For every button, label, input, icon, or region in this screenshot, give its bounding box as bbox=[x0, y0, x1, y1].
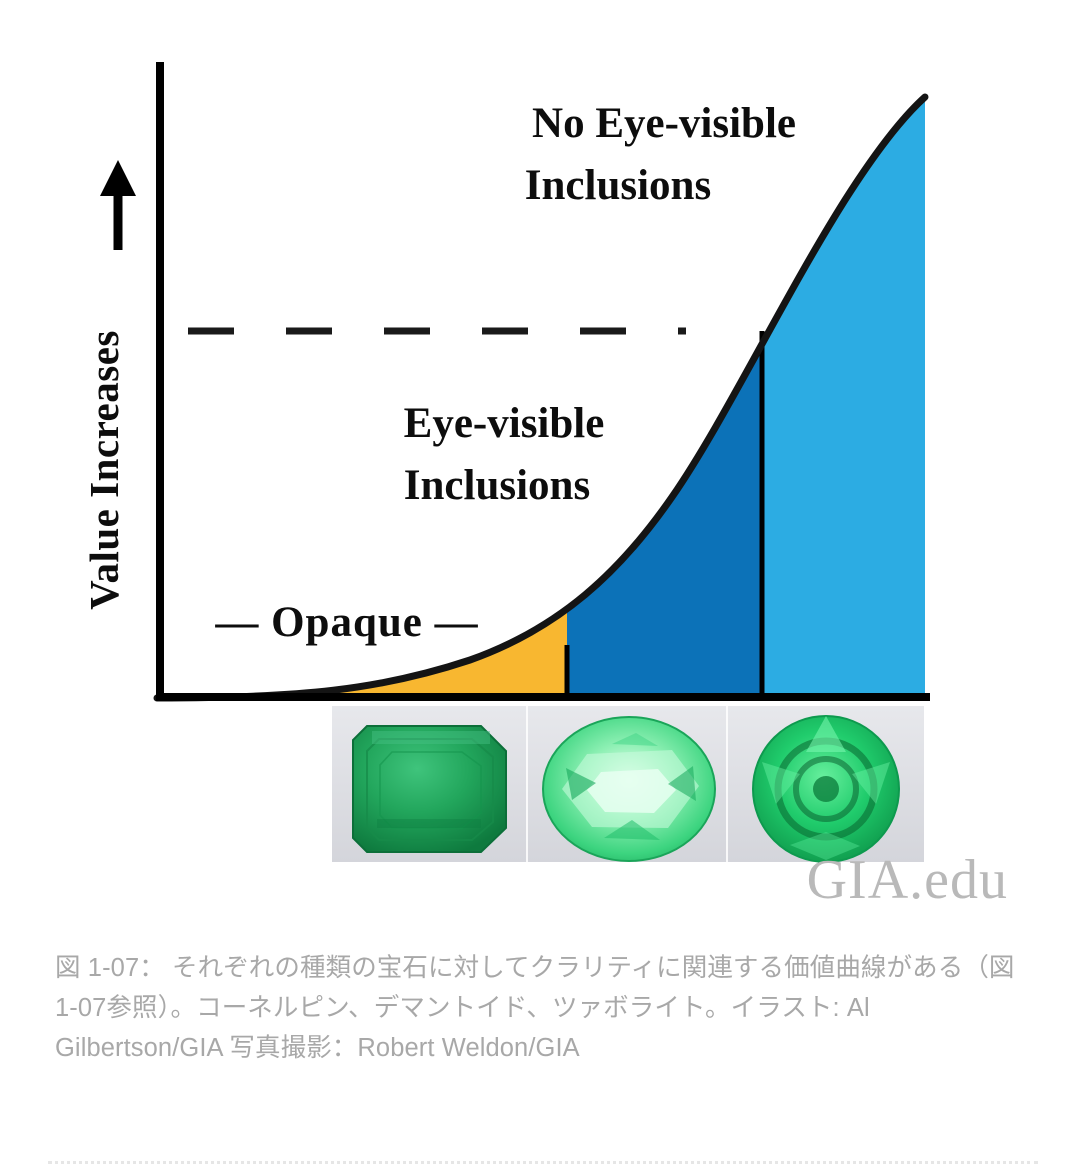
bottom-divider bbox=[48, 1161, 1038, 1164]
label-eye-visible-line2: Inclusions bbox=[404, 462, 590, 509]
label-no-eye-visible-line2: Inclusions bbox=[525, 162, 711, 209]
label-opaque: — Opaque — bbox=[214, 599, 478, 646]
gem-photo-oval-brilliant bbox=[543, 717, 715, 861]
gia-watermark: GIA.edu bbox=[807, 849, 1008, 911]
figure-caption: 図 1-07： それぞれの種類の宝石に対してクラリティに関連する価値曲線がある（… bbox=[55, 948, 1015, 1068]
y-axis-arrow-icon bbox=[100, 160, 136, 250]
gem-photo-round-brilliant bbox=[753, 716, 899, 862]
chart-svg: Value Increases No Eye-visible Inclusion… bbox=[0, 0, 1080, 925]
zone-eye-visible bbox=[567, 60, 762, 700]
label-no-eye-visible-line1: No Eye-visible bbox=[532, 100, 796, 147]
gem-photo-strip bbox=[332, 706, 924, 862]
label-eye-visible-line1: Eye-visible bbox=[404, 400, 605, 447]
zone-no-eye-visible bbox=[762, 60, 932, 700]
figure-page: Value Increases No Eye-visible Inclusion… bbox=[0, 0, 1080, 1173]
clarity-value-chart: Value Increases No Eye-visible Inclusion… bbox=[0, 0, 1080, 925]
gem-photo-emerald-cut bbox=[353, 726, 506, 852]
y-axis-label: Value Increases bbox=[81, 330, 127, 610]
